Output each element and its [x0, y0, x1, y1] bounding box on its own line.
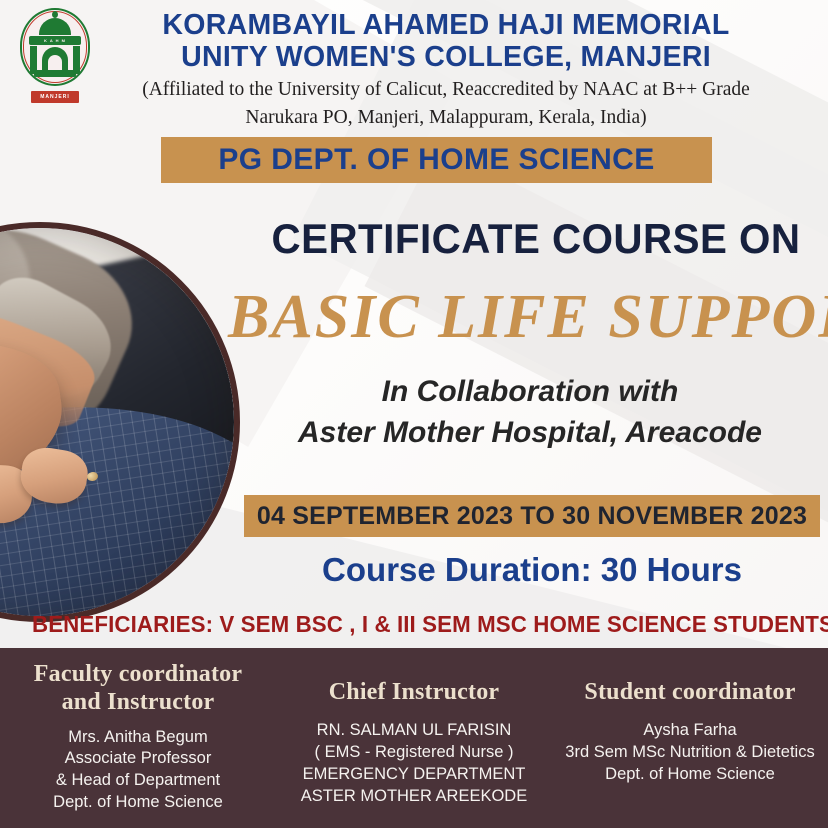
logo-band-text: K A H M: [29, 36, 81, 45]
college-logo: K A H M MANJERI: [12, 6, 98, 110]
footer-heading: Faculty coordinator and Instructor: [0, 660, 276, 717]
college-name-line1: KORAMBAYIL AHAMED HAJI MEMORIAL: [96, 10, 796, 42]
footer-detail-line: Mrs. Anitha Begum: [0, 727, 276, 749]
footer-details: Mrs. Anitha Begum Associate Professor & …: [0, 727, 276, 814]
footer-detail-line: & Head of Department: [0, 770, 276, 792]
collaboration-line1: In Collaboration with: [238, 372, 822, 413]
college-name-line2: UNITY WOMEN'S COLLEGE, MANJERI: [96, 42, 796, 74]
footer-detail-line: EMERGENCY DEPARTMENT: [276, 764, 552, 786]
footer-column-chief-instructor: Chief Instructor RN. SALMAN UL FARISIN (…: [276, 648, 552, 828]
footer-heading: Chief Instructor: [276, 678, 552, 706]
date-range-label: 04 SEPTEMBER 2023 TO 30 NOVEMBER 2023: [257, 502, 807, 531]
footer-detail-line: ASTER MOTHER AREEKODE: [276, 786, 552, 808]
footer-details: Aysha Farha 3rd Sem MSc Nutrition & Diet…: [552, 720, 828, 785]
photo-inner: [0, 228, 234, 616]
footer-heading: Student coordinator: [552, 678, 828, 706]
footer-detail-line: ( EMS - Registered Nurse ): [276, 742, 552, 764]
logo-band: K A H M: [29, 36, 81, 45]
department-banner: PG DEPT. OF HOME SCIENCE: [161, 137, 712, 183]
logo-plaque: MANJERI: [31, 91, 79, 103]
footer-detail-line: Associate Professor: [0, 748, 276, 770]
footer-heading-line1: Faculty coordinator: [0, 660, 276, 688]
mosque-base: [34, 70, 76, 77]
poster-header: KORAMBAYIL AHAMED HAJI MEMORIAL UNITY WO…: [96, 10, 796, 131]
footer-column-faculty-coordinator: Faculty coordinator and Instructor Mrs. …: [0, 648, 276, 828]
footer-detail-line: Aysha Farha: [552, 720, 828, 742]
affiliation-line2: Narukara PO, Manjeri, Malappuram, Kerala…: [96, 106, 796, 131]
date-range-banner: 04 SEPTEMBER 2023 TO 30 NOVEMBER 2023: [244, 495, 820, 537]
footer-detail-line: 3rd Sem MSc Nutrition & Dietetics: [552, 742, 828, 764]
footer-heading-line2: and Instructor: [0, 688, 276, 716]
footer-detail-line: RN. SALMAN UL FARISIN: [276, 720, 552, 742]
certificate-course-heading: CERTIFICATE COURSE ON: [260, 215, 813, 263]
footer-detail-line: Dept. of Home Science: [0, 792, 276, 814]
footer-heading-line1: Chief Instructor: [276, 678, 552, 706]
footer-column-student-coordinator: Student coordinator Aysha Farha 3rd Sem …: [552, 648, 828, 828]
footer-detail-line: Dept. of Home Science: [552, 764, 828, 786]
footer-heading-line1: Student coordinator: [552, 678, 828, 706]
collaboration-line2: Aster Mother Hospital, Areacode: [238, 413, 822, 454]
course-duration: Course Duration: 30 Hours: [244, 551, 820, 589]
footer-details: RN. SALMAN UL FARISIN ( EMS - Registered…: [276, 720, 552, 807]
poster-footer: Faculty coordinator and Instructor Mrs. …: [0, 648, 828, 828]
beneficiaries-line: BENEFICIARIES: V SEM BSC , I & III SEM M…: [32, 611, 808, 638]
logo-plaque-text: MANJERI: [40, 94, 70, 100]
affiliation-line1: (Affiliated to the University of Calicut…: [96, 78, 796, 103]
event-poster: K A H M MANJERI KORAMBAYIL AHAMED HAJI M…: [0, 0, 828, 828]
cpr-chest-compression-photo: [0, 222, 240, 622]
course-title: BASIC LIFE SUPPORT: [228, 282, 828, 353]
department-banner-label: PG DEPT. OF HOME SCIENCE: [218, 143, 654, 177]
collaboration-block: In Collaboration with Aster Mother Hospi…: [238, 372, 822, 453]
